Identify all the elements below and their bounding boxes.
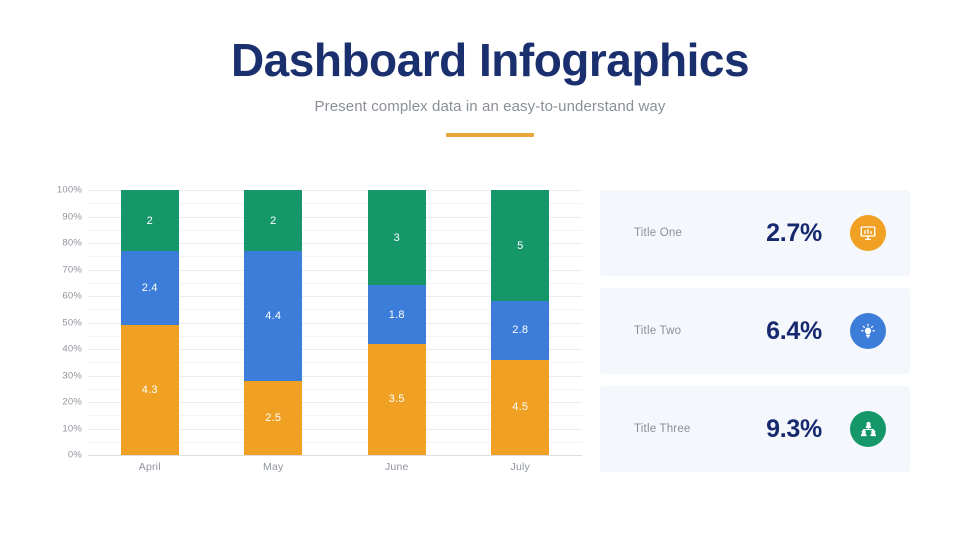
- y-axis-tick: 100%: [30, 185, 82, 196]
- bar-column[interactable]: 31.83.5: [368, 190, 426, 455]
- bar-segment[interactable]: 2.8: [491, 301, 549, 359]
- y-axis-tick: 0%: [30, 450, 82, 461]
- chart-plot-area: 100%90%80%70%60%50%40%30%20%10%0% 22.44.…: [88, 190, 582, 455]
- y-axis-tick: 40%: [30, 344, 82, 355]
- stat-card-title: Title One: [634, 227, 738, 239]
- gridline: [88, 455, 582, 456]
- org-hierarchy-icon: [850, 411, 886, 447]
- chart-bars: 22.44.324.42.531.83.552.84.5: [88, 190, 582, 455]
- bar-segment[interactable]: 3: [368, 190, 426, 285]
- y-axis-tick: 30%: [30, 370, 82, 381]
- y-axis-tick: 20%: [30, 397, 82, 408]
- stat-card-title: Title Two: [634, 325, 738, 337]
- bar-segment[interactable]: 2.4: [121, 251, 179, 325]
- stat-card[interactable]: Title One2.7%: [600, 190, 910, 276]
- x-axis-tick: July: [491, 461, 549, 473]
- content-area: 100%90%80%70%60%50%40%30%20%10%0% 22.44.…: [0, 190, 980, 490]
- x-axis-tick: June: [368, 461, 426, 473]
- x-axis-tick: April: [121, 461, 179, 473]
- bar-segment[interactable]: 4.3: [121, 325, 179, 455]
- bar-segment[interactable]: 2: [121, 190, 179, 251]
- stat-card[interactable]: Title Two6.4%: [600, 288, 910, 374]
- x-axis-tick: May: [244, 461, 302, 473]
- page-subtitle: Present complex data in an easy-to-under…: [0, 98, 980, 115]
- y-axis: 100%90%80%70%60%50%40%30%20%10%0%: [30, 190, 82, 455]
- y-axis-tick: 80%: [30, 238, 82, 249]
- bar-segment[interactable]: 2: [244, 190, 302, 251]
- bar-segment[interactable]: 4.5: [491, 360, 549, 455]
- y-axis-tick: 60%: [30, 291, 82, 302]
- stat-card-value: 9.3%: [738, 415, 850, 444]
- bar-column[interactable]: 52.84.5: [491, 190, 549, 455]
- bar-segment[interactable]: 2.5: [244, 381, 302, 455]
- stat-cards-panel: Title One2.7%Title Two6.4%Title Three9.3…: [600, 190, 980, 490]
- y-axis-tick: 70%: [30, 264, 82, 275]
- stat-card[interactable]: Title Three9.3%: [600, 386, 910, 472]
- stat-card-title: Title Three: [634, 423, 738, 435]
- stat-card-value: 2.7%: [738, 219, 850, 248]
- bar-segment[interactable]: 5: [491, 190, 549, 301]
- bar-segment[interactable]: 4.4: [244, 251, 302, 381]
- bar-column[interactable]: 24.42.5: [244, 190, 302, 455]
- lightbulb-icon: [850, 313, 886, 349]
- y-axis-tick: 50%: [30, 317, 82, 328]
- title-divider: [446, 133, 534, 137]
- presentation-chart-icon: [850, 215, 886, 251]
- y-axis-tick: 10%: [30, 423, 82, 434]
- page-title: Dashboard Infographics: [0, 34, 980, 87]
- stat-card-value: 6.4%: [738, 317, 850, 346]
- stacked-bar-chart: 100%90%80%70%60%50%40%30%20%10%0% 22.44.…: [0, 190, 600, 490]
- page-header: Dashboard Infographics Present complex d…: [0, 0, 980, 137]
- bar-segment[interactable]: 1.8: [368, 285, 426, 343]
- x-axis: AprilMayJuneJuly: [88, 461, 582, 473]
- y-axis-tick: 90%: [30, 211, 82, 222]
- bar-segment[interactable]: 3.5: [368, 344, 426, 455]
- bar-column[interactable]: 22.44.3: [121, 190, 179, 455]
